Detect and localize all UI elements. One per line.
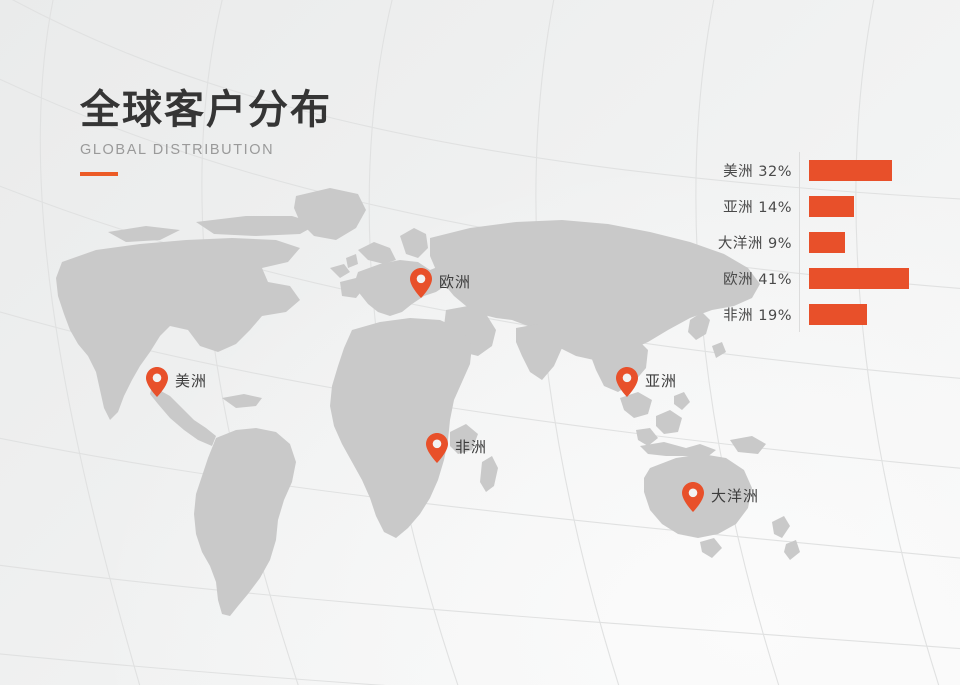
chart-row-label: 非洲 19% xyxy=(700,304,799,325)
distribution-bar-chart: 美洲 32% 亚洲 14% 大洋洲 9% 欧洲 41% 非洲 19% xyxy=(700,152,930,332)
chart-bar-asia xyxy=(809,196,854,217)
chart-row-label: 欧洲 41% xyxy=(700,268,799,289)
chart-bar-americas xyxy=(809,160,892,181)
chart-bar-oceania xyxy=(809,232,845,253)
map-marker-europe[interactable]: 欧洲 xyxy=(410,268,471,298)
chart-row: 欧洲 41% xyxy=(700,260,930,296)
map-marker-asia[interactable]: 亚洲 xyxy=(616,367,677,397)
chart-row: 美洲 32% xyxy=(700,152,930,188)
location-pin-icon xyxy=(146,367,168,397)
chart-row: 亚洲 14% xyxy=(700,188,930,224)
chart-row-label: 大洋洲 9% xyxy=(700,232,799,253)
page-title: 全球客户分布 xyxy=(80,86,332,134)
chart-row: 大洋洲 9% xyxy=(700,224,930,260)
slide-canvas: 全球客户分布 GLOBAL DISTRIBUTION 美洲 欧洲 xyxy=(0,0,960,685)
location-pin-icon xyxy=(426,433,448,463)
location-pin-icon xyxy=(616,367,638,397)
chart-bar-africa xyxy=(809,304,867,325)
chart-row-label: 美洲 32% xyxy=(700,160,799,181)
location-pin-icon xyxy=(410,268,432,298)
map-marker-label: 美洲 xyxy=(175,370,207,391)
accent-underline xyxy=(80,172,118,176)
chart-bar-europe xyxy=(809,268,909,289)
map-marker-label: 欧洲 xyxy=(439,271,471,292)
heading-block: 全球客户分布 GLOBAL DISTRIBUTION xyxy=(80,86,332,176)
page-subtitle: GLOBAL DISTRIBUTION xyxy=(80,142,332,158)
map-marker-africa[interactable]: 非洲 xyxy=(426,433,487,463)
map-marker-label: 亚洲 xyxy=(645,370,677,391)
map-marker-oceania[interactable]: 大洋洲 xyxy=(682,482,759,512)
map-marker-label: 大洋洲 xyxy=(711,485,759,506)
map-marker-label: 非洲 xyxy=(455,436,487,457)
map-marker-americas[interactable]: 美洲 xyxy=(146,367,207,397)
chart-row: 非洲 19% xyxy=(700,296,930,332)
chart-row-label: 亚洲 14% xyxy=(700,196,799,217)
location-pin-icon xyxy=(682,482,704,512)
